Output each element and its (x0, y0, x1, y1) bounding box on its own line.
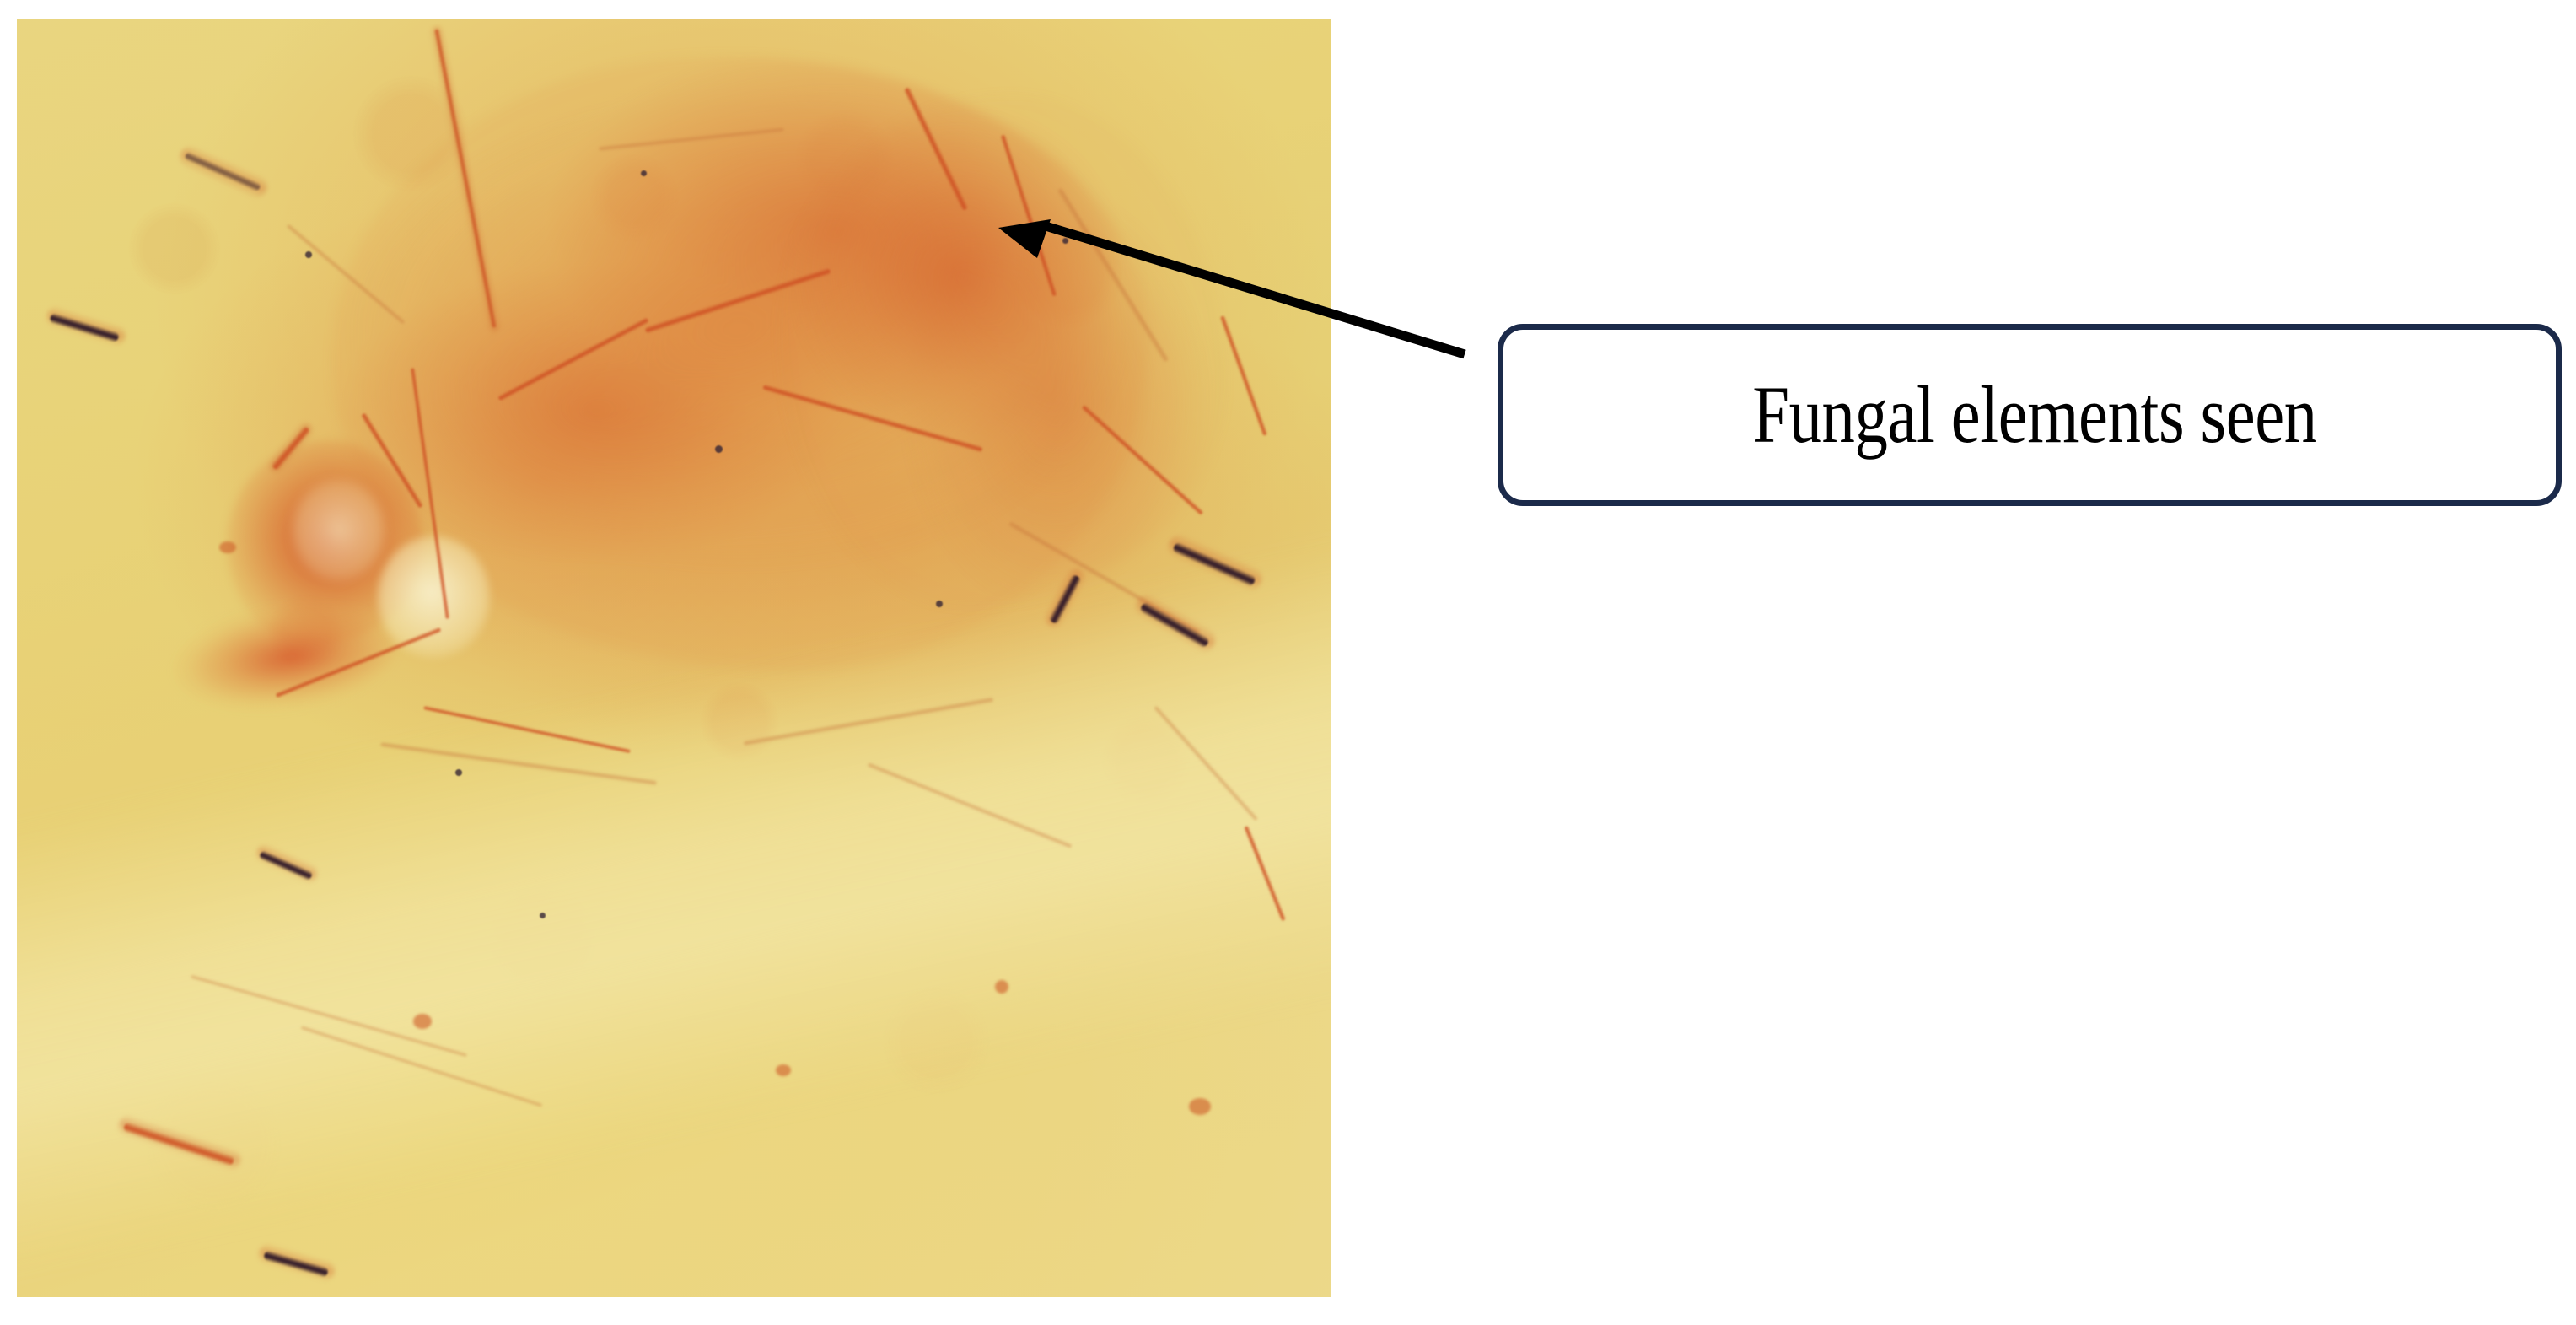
fungal-hypha (744, 697, 994, 746)
fungal-hypha (275, 627, 441, 698)
micrograph-speck (413, 1014, 432, 1029)
micrograph-speck (305, 251, 312, 258)
fungal-hypha (644, 267, 831, 335)
callout-box[interactable]: Fungal elements seen (1498, 324, 2562, 506)
fungal-hypha (762, 384, 983, 453)
micrograph-speck (995, 980, 1008, 994)
micrograph-vacuole (293, 479, 385, 581)
micrograph-speck (1189, 1098, 1211, 1115)
fungal-hypha (423, 705, 631, 754)
fungal-hypha-halo (429, 25, 503, 332)
arrow-shaft (1046, 226, 1465, 354)
fungal-hypha (1243, 826, 1286, 922)
micrograph-speck (776, 1064, 791, 1076)
fungal-hypha (301, 1026, 543, 1107)
fungal-hypha (903, 87, 969, 212)
fungal-hypha (360, 412, 424, 509)
fungal-hypha (497, 317, 649, 402)
figure-root: Fungal elements seen (0, 0, 2576, 1325)
micrograph-speck (641, 170, 647, 176)
callout-label: Fungal elements seen (1743, 374, 2317, 455)
fungal-hypha (867, 762, 1072, 849)
micrograph-speck (936, 601, 943, 607)
micrograph-speck (715, 445, 723, 453)
arrow-head (998, 219, 1051, 258)
fungal-hypha (599, 127, 783, 152)
annotation-arrow (970, 194, 1509, 388)
micrograph-speck (219, 541, 236, 553)
micrograph-speck (540, 913, 546, 918)
fungal-hypha (286, 224, 406, 325)
fungal-hypha (1081, 404, 1204, 515)
micrograph-vacuole (378, 536, 489, 658)
micrograph-pale-band (17, 510, 1331, 1290)
micrograph-speck (455, 769, 462, 776)
fungal-hypha (1154, 705, 1259, 821)
